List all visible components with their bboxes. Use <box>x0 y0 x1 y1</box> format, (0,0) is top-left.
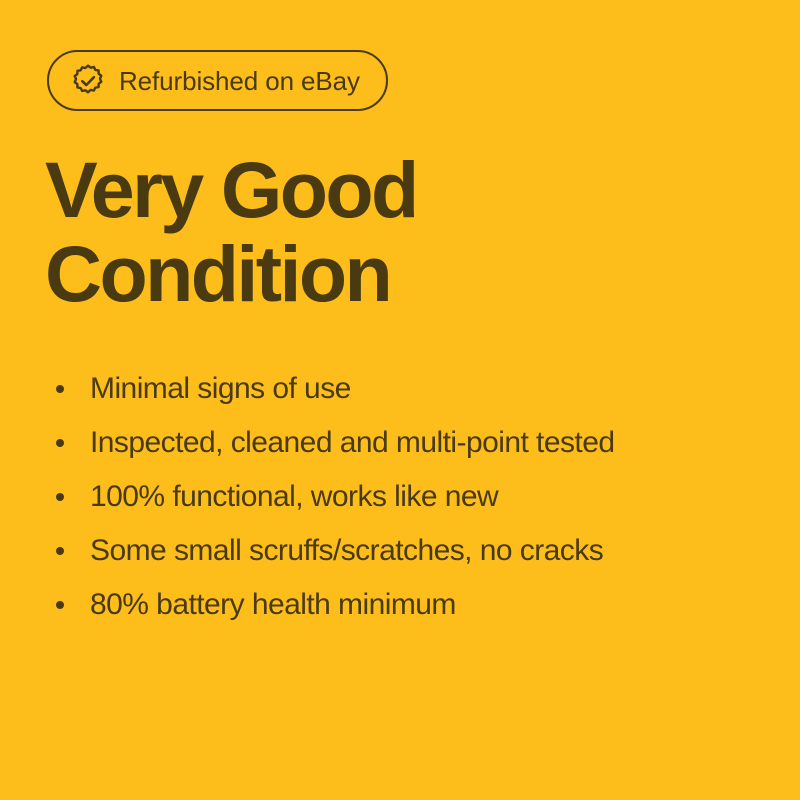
bullet-dot-icon <box>56 439 64 447</box>
list-item-label: Some small scruffs/scratches, no cracks <box>90 536 603 566</box>
refurbished-condition-card: Refurbished on eBay Very Good Condition … <box>0 0 800 800</box>
list-item: 100% functional, works like new <box>47 470 767 524</box>
verified-rosette-check-icon <box>71 64 105 98</box>
list-item-label: 100% functional, works like new <box>90 482 498 512</box>
refurbished-badge-label: Refurbished on eBay <box>119 68 360 94</box>
list-item-label: 80% battery health minimum <box>90 590 456 620</box>
list-item: 80% battery health minimum <box>47 578 767 632</box>
page-title-line-1: Very Good <box>45 148 745 232</box>
bullet-dot-icon <box>56 547 64 555</box>
bullet-dot-icon <box>56 601 64 609</box>
page-title-line-2: Condition <box>45 232 745 316</box>
list-item: Inspected, cleaned and multi-point teste… <box>47 416 767 470</box>
list-item-label: Minimal signs of use <box>90 374 351 404</box>
bullet-dot-icon <box>56 493 64 501</box>
list-item-label: Inspected, cleaned and multi-point teste… <box>90 428 614 458</box>
list-item: Some small scruffs/scratches, no cracks <box>47 524 767 578</box>
refurbished-badge: Refurbished on eBay <box>47 50 388 111</box>
bullet-dot-icon <box>56 385 64 393</box>
condition-feature-list: Minimal signs of use Inspected, cleaned … <box>47 362 767 632</box>
page-title: Very Good Condition <box>45 148 745 316</box>
list-item: Minimal signs of use <box>47 362 767 416</box>
